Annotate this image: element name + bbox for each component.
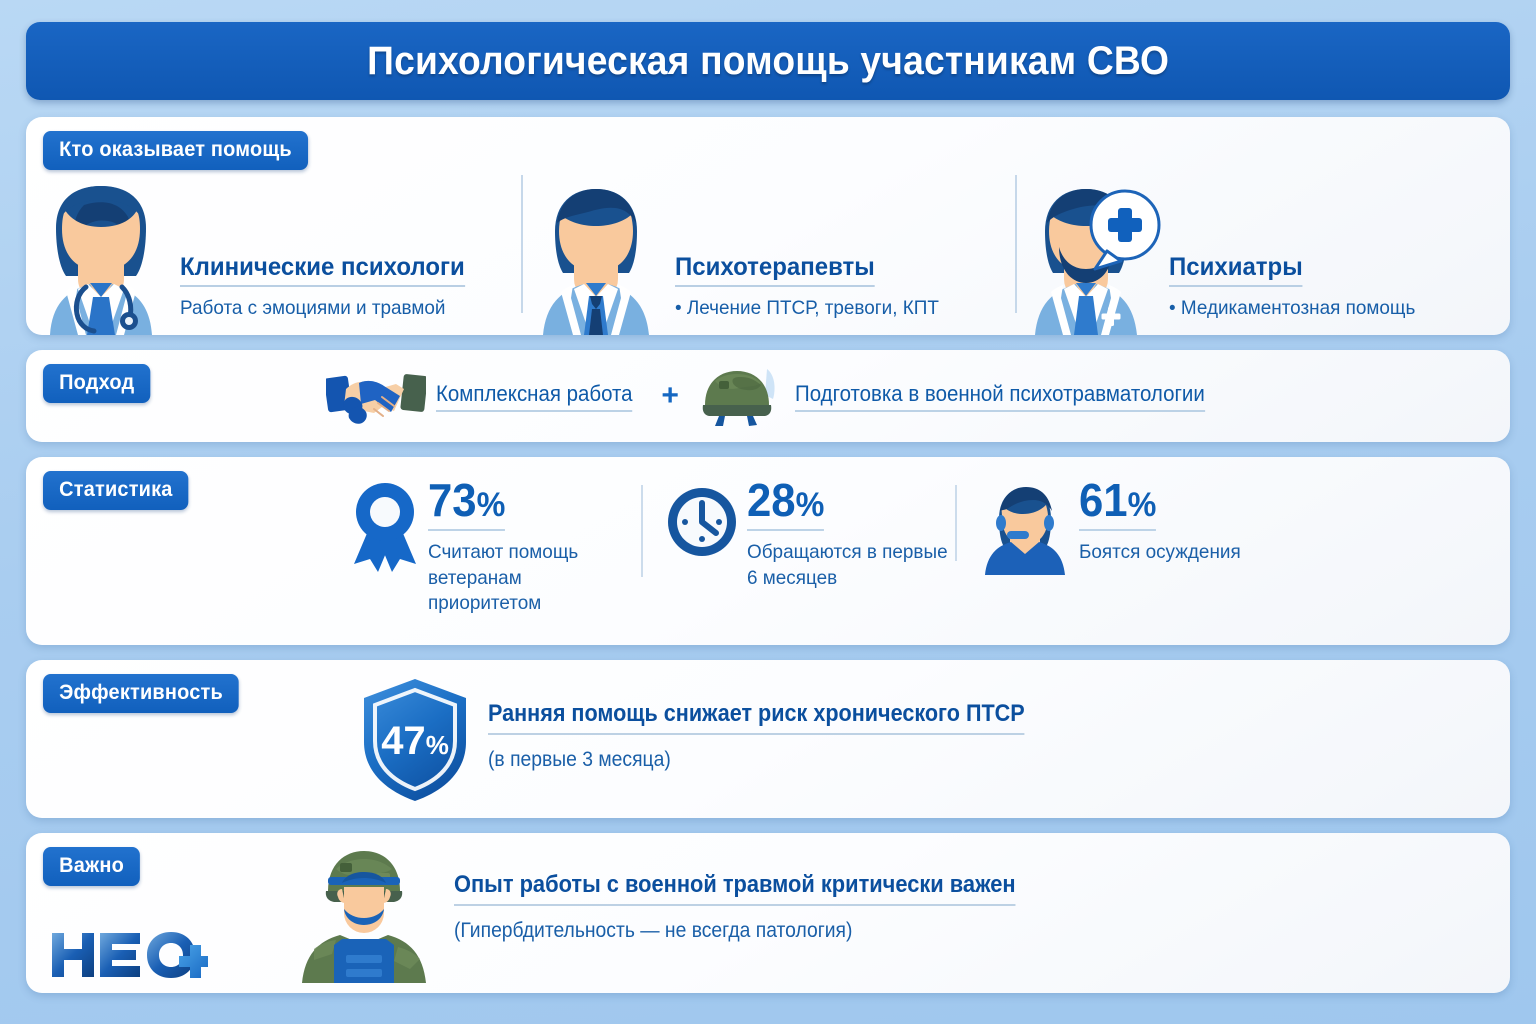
card-statistics: Статистика 73% Считают помощь ветеранам … <box>26 457 1510 645</box>
provider-clinical-psychologists: Клинические психологи Работа с эмоциями … <box>26 161 521 335</box>
provider-title: Клинические психологи <box>180 253 465 287</box>
effectiveness-sub: (в первые 3 месяца) <box>488 748 1037 772</box>
provider-title: Психиатры <box>1169 253 1303 287</box>
provider-text: Психиатры • Медикаментозная помощь <box>1169 253 1423 335</box>
stat-value: 73% <box>428 477 505 531</box>
stat-caption: Обращаются в первые 6 месяцев <box>747 540 949 591</box>
important-sub: (Гипербдительность — не всегда патология… <box>454 919 1022 943</box>
stat-caption: Боятся осуждения <box>1079 540 1241 566</box>
approach-label-2: Подготовка в военной психотравматологии <box>795 381 1205 412</box>
infographic-page: Психологическая помощь участникам СВО Кт… <box>0 0 1536 1024</box>
stat-body: 61% Боятся осуждения <box>1079 477 1246 566</box>
badge-effectiveness: Эффективность <box>43 674 239 713</box>
soldier-icon <box>284 843 444 983</box>
stat-value: 28% <box>747 477 824 531</box>
stat-caption: Считают помощь ветеранам приоритетом <box>428 540 634 617</box>
badge-approach: Подход <box>43 364 151 403</box>
badge-statistics: Статистика <box>43 471 189 510</box>
page-title: Психологическая помощь участникам СВО <box>367 39 1169 84</box>
important-main: Опыт работы с военной травмой критически… <box>454 871 1016 906</box>
female-doctor-icon <box>26 183 176 335</box>
stat-value: 61% <box>1079 477 1156 531</box>
male-doctor-icon <box>521 183 671 335</box>
badge-important: Важно <box>43 847 140 886</box>
provider-sub: Работа с эмоциями и травмой <box>180 296 468 321</box>
stat-body: 73% Считают помощь ветеранам приоритетом <box>428 477 641 617</box>
shield-icon: 47% <box>356 676 474 804</box>
providers-row: Клинические психологи Работа с эмоциями … <box>26 161 1510 335</box>
stat-priority: 73% Считают помощь ветеранам приоритетом <box>326 477 641 617</box>
provider-psychotherapists: Психотерапевты • Лечение ПТСР, тревоги, … <box>521 161 1016 335</box>
neo-plus-logo <box>48 929 208 981</box>
approach-row: Комплексная работа + Подготовка в военно… <box>326 365 1236 427</box>
approach-label-1: Комплексная работа <box>436 381 633 412</box>
plus-separator: + <box>661 379 679 413</box>
provider-text: Психотерапевты • Лечение ПТСР, тревоги, … <box>675 253 947 335</box>
important-row: Опыт работы с военной травмой критически… <box>284 843 1071 983</box>
effectiveness-row: 47% Ранняя помощь снижает риск хроническ… <box>356 676 1084 804</box>
card-approach: Подход Комплексная работа + <box>26 350 1510 442</box>
provider-text: Клинические психологи Работа с эмоциями … <box>180 253 477 335</box>
page-header: Психологическая помощь участникам СВО <box>26 22 1510 100</box>
card-providers: Кто оказывает помощь <box>26 117 1510 335</box>
stat-first-six-months: 28% Обращаются в первые 6 месяцев <box>641 477 956 591</box>
stat-fear-judgement: 61% Боятся осуждения <box>955 477 1270 575</box>
card-effectiveness: Эффективность 47% Ранняя помощь снижает … <box>26 660 1510 818</box>
statistics-row: 73% Считают помощь ветеранам приоритетом… <box>326 477 1270 635</box>
provider-sub: • Лечение ПТСР, тревоги, КПТ <box>675 296 939 321</box>
clock-icon <box>663 479 741 565</box>
stat-body: 28% Обращаются в первые 6 месяцев <box>747 477 956 591</box>
person-headset-icon <box>977 479 1073 575</box>
military-helmet-icon <box>693 365 785 427</box>
provider-psychiatrists: Психиатры • Медикаментозная помощь <box>1015 161 1510 335</box>
award-ribbon-icon <box>348 479 422 579</box>
effectiveness-main: Ранняя помощь снижает риск хронического … <box>488 700 1025 735</box>
effectiveness-text: Ранняя помощь снижает риск хронического … <box>488 676 1084 772</box>
provider-title: Психотерапевты <box>675 253 875 287</box>
important-text: Опыт работы с военной травмой критически… <box>454 843 1071 943</box>
provider-sub: • Медикаментозная помощь <box>1169 296 1415 321</box>
card-important: Важно <box>26 833 1510 993</box>
handshake-icon <box>326 365 426 427</box>
bearded-doctor-icon <box>1015 183 1165 335</box>
